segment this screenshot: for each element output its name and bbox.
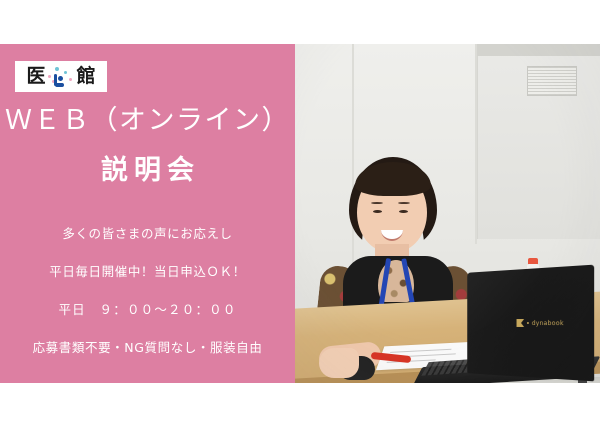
kokoro-dots-icon [48,66,75,88]
headline-block: ＷＥＢ（オンライン） 説明会 [0,104,295,188]
person-eye-left [373,210,382,213]
laptop-brand-logo: dynabook [517,319,564,327]
person-eyebrow-right [398,202,410,204]
person-hand [319,348,359,378]
laptop-brand-text: dynabook [532,319,564,326]
person-eye-right [399,210,408,213]
detail-line-requirements: 応募書類不要・NG質問なし・服装自由 [0,340,295,356]
headline-line-2: 説明会 [0,154,295,188]
dynabook-dot-icon [527,322,529,324]
wall-seam-right [475,44,477,244]
air-vent [527,66,577,96]
laptop-lid: dynabook [467,265,594,382]
brand-logo: 医 館 [15,61,107,92]
detail-line-voice: 多くの皆さまの声にお応えし [0,226,295,242]
logo-kanji-right: 館 [77,67,96,86]
person-eyebrow-left [371,202,383,204]
dynabook-mark-icon [517,319,525,327]
brand-logo-inner: 医 館 [26,66,95,88]
pink-text-panel: 医 館 ＷＥＢ（オンライン） 説明会 多くの皆さまの声にお応えし [0,44,295,383]
photo-woman-at-laptop: dynabook [295,44,600,383]
headline-line-1: ＷＥＢ（オンライン） [0,104,295,138]
logo-kanji-left: 医 [26,67,45,86]
promo-banner: 医 館 ＷＥＢ（オンライン） 説明会 多くの皆さまの声にお応えし [0,44,600,383]
detail-text-block: 多くの皆さまの声にお応えし 平日毎日開催中！当日申込ＯＫ！ 平日 ９：００～２０… [0,226,295,356]
detail-line-schedule: 平日毎日開催中！当日申込ＯＫ！ [0,264,295,280]
detail-line-hours: 平日 ９：００～２０：００ [0,302,295,318]
ceiling-shadow [477,44,600,56]
